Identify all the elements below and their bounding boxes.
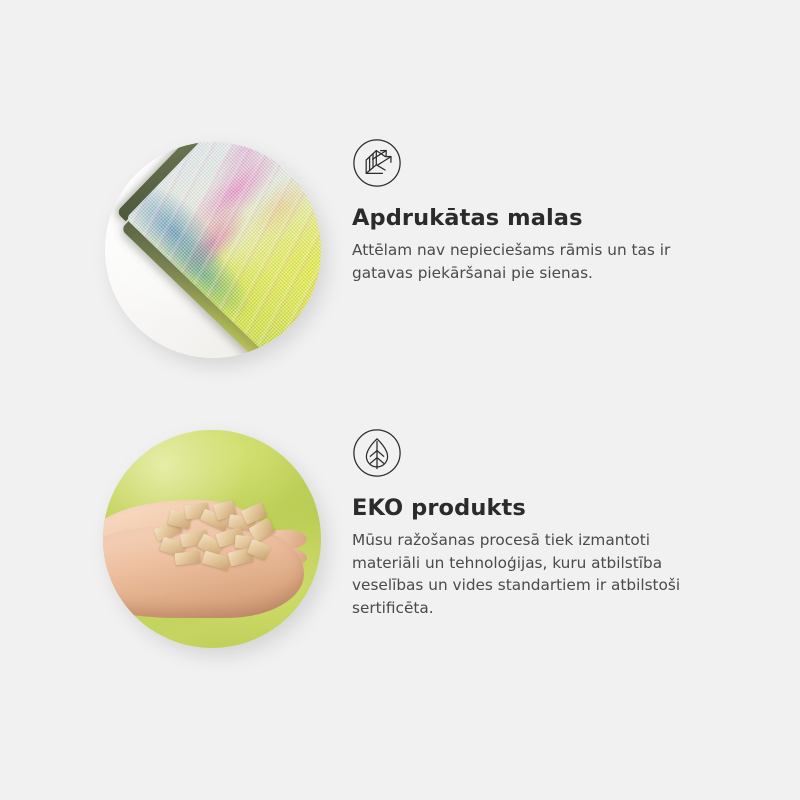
- leaf-icon: [352, 428, 402, 478]
- feature-block-eco-product: EKO produkts Mūsu ražošanas procesā tiek…: [0, 420, 800, 660]
- feature-text-eco-product: EKO produkts Mūsu ražošanas procesā tiek…: [340, 420, 800, 619]
- wood-chip: [174, 551, 200, 566]
- feature-panel: Apdrukātas malas Attēlam nav nepieciešam…: [0, 0, 800, 800]
- canvas-illustration: [105, 142, 321, 358]
- feature-block-printed-edges: Apdrukātas malas Attēlam nav nepieciešam…: [0, 130, 800, 370]
- feature-text-printed-edges: Apdrukātas malas Attēlam nav nepieciešam…: [340, 130, 800, 284]
- canvas-corner-photo: [105, 142, 321, 358]
- feature-description: Attēlam nav nepieciešams rāmis un tas ir…: [352, 239, 717, 284]
- feature-title: EKO produkts: [352, 494, 800, 522]
- feature-media-printed-edges: [0, 130, 340, 370]
- wood-chips-photo: [103, 430, 321, 648]
- feature-media-eco-product: [0, 420, 340, 660]
- hands-illustration: [103, 486, 317, 616]
- feature-description: Mūsu ražošanas procesā tiek izmantoti ma…: [352, 529, 717, 619]
- wood-chip-pile: [151, 502, 275, 572]
- feature-title: Apdrukātas malas: [352, 204, 800, 232]
- printed-edges-icon: [352, 138, 402, 188]
